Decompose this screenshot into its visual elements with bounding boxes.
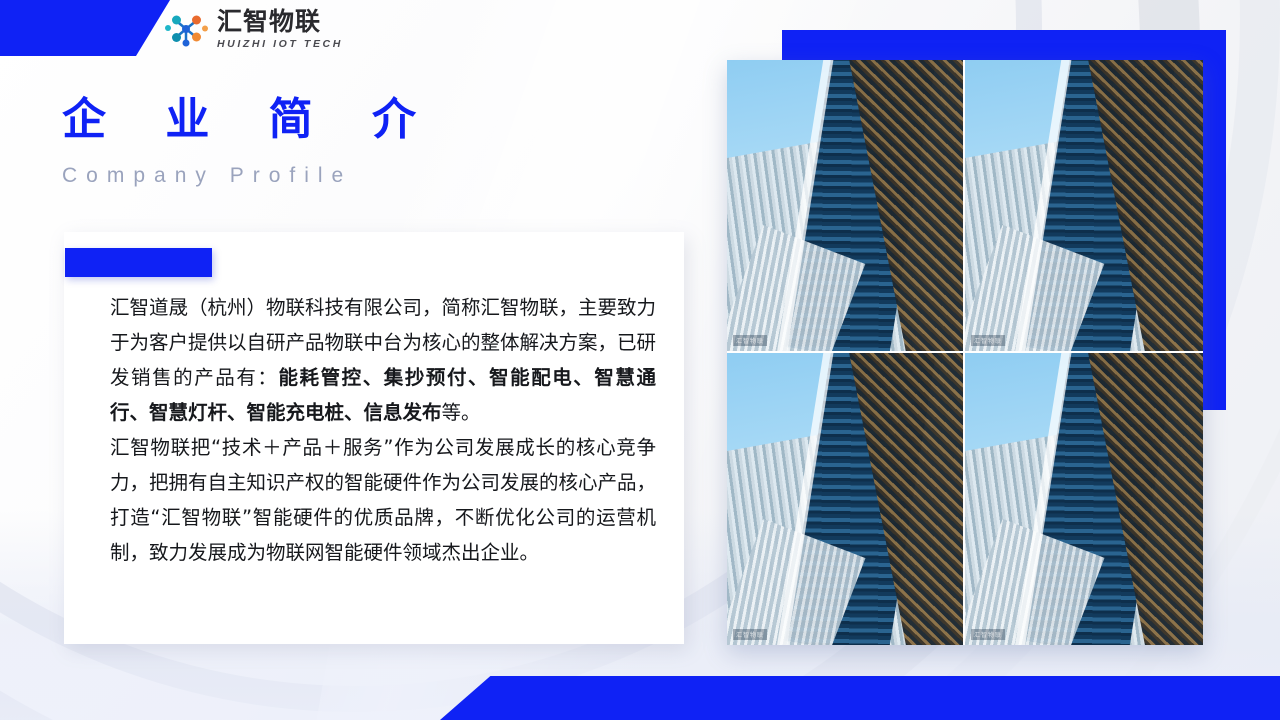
card-accent-tab <box>65 248 212 277</box>
building-photo-grid: 汇智物联 汇智物联 汇智物联 汇智物联 <box>727 60 1203 645</box>
content-card: 汇智道晟（杭州）物联科技有限公司，简称汇智物联，主要致力于为客户提供以自研产品物… <box>64 232 684 644</box>
photo-watermark: 汇智物联 <box>733 629 767 640</box>
slide-canvas: 汇智物联 HUIZHI IOT TECH 企 业 简 介 Company Pro… <box>0 0 1280 720</box>
molecule-network-icon <box>163 8 209 50</box>
page-title: 企 业 简 介 <box>62 96 438 144</box>
photo-watermark: 汇智物联 <box>971 335 1005 346</box>
photo-watermark: 汇智物联 <box>733 335 767 346</box>
description-paragraph-1: 汇智道晟（杭州）物联科技有限公司，简称汇智物联，主要致力于为客户提供以自研产品物… <box>110 290 656 430</box>
photo-watermark: 汇智物联 <box>971 629 1005 640</box>
photo-tile: 汇智物联 <box>965 60 1203 353</box>
photo-tile: 汇智物联 <box>727 353 965 646</box>
bottom-blue-parallelogram <box>440 676 1280 720</box>
logo-english-name: HUIZHI IOT TECH <box>217 39 343 50</box>
company-logo: 汇智物联 HUIZHI IOT TECH <box>163 8 343 50</box>
photo-tile: 汇智物联 <box>727 60 965 353</box>
page-title-block: 企 业 简 介 Company Profile <box>62 96 438 188</box>
company-description: 汇智道晟（杭州）物联科技有限公司，简称汇智物联，主要致力于为客户提供以自研产品物… <box>110 290 656 570</box>
description-paragraph-2: 汇智物联把“技术＋产品＋服务”作为公司发展成长的核心竞争力，把拥有自主知识产权的… <box>110 430 656 570</box>
page-subtitle: Company Profile <box>62 164 438 188</box>
photo-tile: 汇智物联 <box>965 353 1203 646</box>
logo-chinese-name: 汇智物联 <box>217 9 343 34</box>
